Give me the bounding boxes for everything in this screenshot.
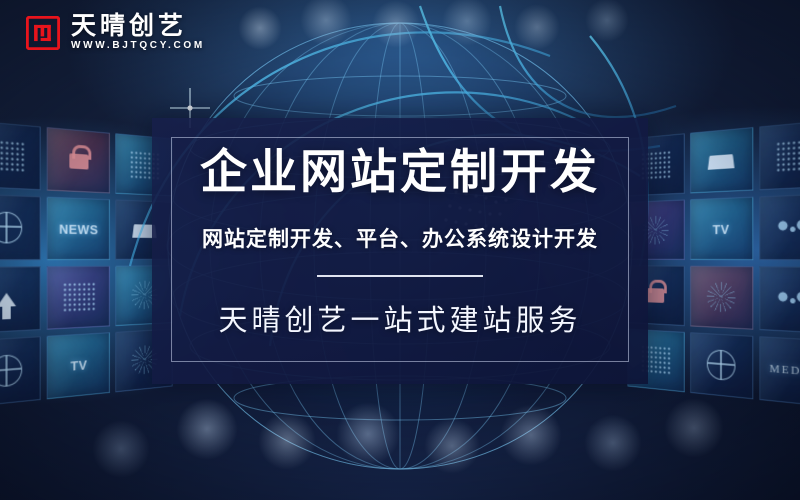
media-tile-label: NEWS [59,221,98,237]
dots-grid-icon [776,139,800,173]
brand-logo[interactable]: 天晴创艺 WWW.BJTQCY.COM [26,14,205,51]
subtitle: 网站定制开发、平台、办公系统设计开发 [202,223,598,253]
map-icon [775,288,800,310]
media-tile [47,266,110,330]
page-title: 企业网站定制开发 [200,148,600,199]
media-tile [759,194,800,261]
media-tile: NEWS [47,197,110,260]
abstract-blue-icon [0,139,24,173]
headline-panel: 企业网站定制开发 网站定制开发、平台、办公系统设计开发 天晴创艺一站式建站服务 [152,118,648,384]
laptop-icon [708,154,735,170]
media-tile [759,120,800,190]
media-tile: TV [47,332,110,399]
media-tile [759,266,800,333]
globe-icon [0,354,22,388]
map-icon [775,217,800,239]
media-tile [0,336,41,407]
media-tile: MEDIA [759,336,800,407]
lock-icon [69,153,88,169]
media-tile [0,194,41,261]
burst-icon [707,282,736,313]
media-tile [0,120,41,190]
tq-square-logo-icon [26,16,60,50]
media-tile-label: TV [713,221,730,236]
arrow-up-icon [0,292,16,306]
title-divider [317,275,483,277]
brand-name: 天晴创艺 [71,14,205,39]
brand-url: WWW.BJTQCY.COM [71,41,205,51]
globe-icon [707,349,736,381]
media-tile [690,127,753,193]
media-tile-label: TV [71,357,88,373]
promo-banner: NEWSTV TVMEDIA [0,0,800,500]
media-tile [690,332,753,399]
media-tile [47,127,110,193]
dots-grid-icon [63,282,96,313]
tagline: 天晴创艺一站式建站服务 [218,297,581,339]
media-tile [0,266,41,333]
media-tile [690,266,753,330]
media-tile-label: MEDIA [769,363,800,380]
network-sphere-icon [0,211,22,243]
media-tile: TV [690,197,753,260]
